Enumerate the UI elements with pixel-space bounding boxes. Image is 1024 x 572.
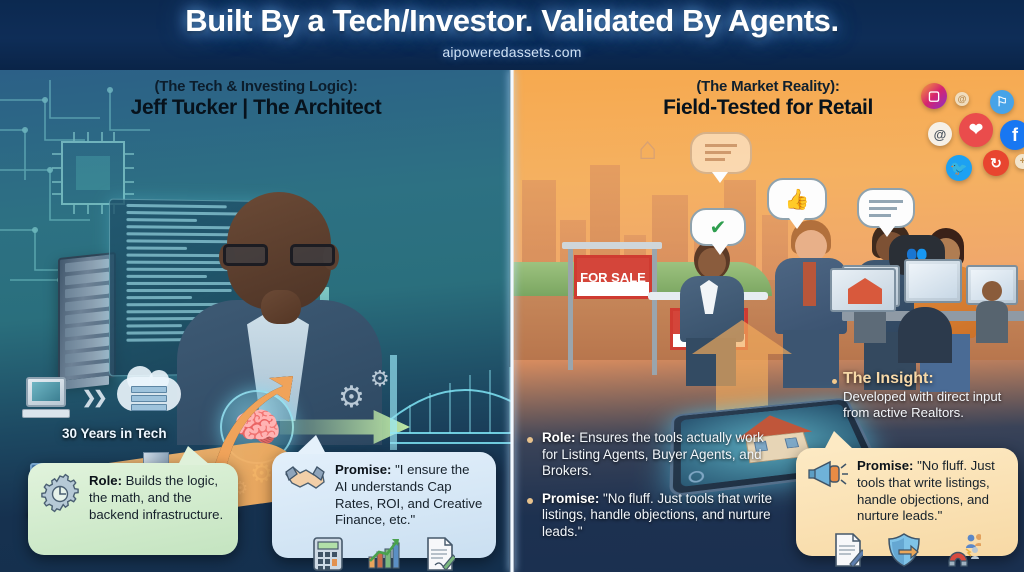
thumbsup-bubble: 👍 bbox=[767, 178, 827, 220]
right-panel-title: Field-Tested for Retail bbox=[512, 96, 1024, 120]
panel-divider bbox=[509, 70, 515, 572]
server-rack-icon bbox=[58, 252, 116, 383]
bullet-promise-label: Promise: bbox=[542, 491, 599, 506]
desktop-computer-icon bbox=[22, 377, 70, 419]
chat-lines-icon bbox=[869, 198, 903, 218]
left-panel-header: (The Tech & Investing Logic): Jeff Tucke… bbox=[0, 78, 512, 120]
promise-callout-label-right: Promise: bbox=[857, 458, 913, 473]
insight-title: The Insight: bbox=[843, 370, 1023, 388]
gear-icon: ⚙ bbox=[338, 380, 365, 415]
thumbs-up-icon: 👍 bbox=[785, 187, 810, 212]
eyeglasses-icon bbox=[223, 244, 335, 266]
banner-title: Built By a Tech/Investor. Validated By A… bbox=[0, 3, 1024, 39]
gear-icon: ⚙ bbox=[370, 366, 390, 392]
facebook-icon: f bbox=[1000, 120, 1024, 150]
promise-callout-box-left: Promise: "I ensure the AI understands Ca… bbox=[272, 452, 496, 558]
right-panel-header: (The Market Reality): Field-Tested for R… bbox=[512, 78, 1024, 120]
left-panel-title: Jeff Tucker | The Architect bbox=[0, 96, 512, 120]
suspension-bridge-graphic bbox=[390, 325, 512, 460]
bullet-role: Role: Ensures the tools actually work fo… bbox=[527, 430, 777, 480]
megaphone-icon bbox=[808, 458, 848, 490]
left-panel-kicker: (The Tech & Investing Logic): bbox=[0, 78, 512, 95]
promise-callout-icons-left bbox=[284, 537, 484, 571]
standing-person bbox=[974, 281, 1008, 343]
laptop-house-icon bbox=[830, 268, 896, 312]
infographic-canvas: Built By a Tech/Investor. Validated By A… bbox=[0, 0, 1024, 572]
sign-post bbox=[568, 245, 573, 370]
bullet-dot-icon bbox=[832, 379, 837, 384]
magnet-leads-icon bbox=[945, 533, 981, 567]
cloud-server-icon bbox=[117, 375, 181, 421]
promise-callout-label-left: Promise: bbox=[335, 462, 391, 477]
tech-timeline-label: 30 Years in Tech bbox=[62, 426, 167, 441]
growth-chart-icon bbox=[367, 537, 401, 571]
tech-timeline-row: ❯❯ bbox=[22, 375, 181, 421]
checkmark-bubble: ✔ bbox=[690, 208, 746, 246]
for-sale-sign-blank bbox=[574, 282, 652, 299]
house-bubble bbox=[690, 132, 752, 174]
right-panel-kicker: (The Market Reality): bbox=[512, 78, 1024, 95]
calculator-icon bbox=[313, 537, 343, 571]
bullet-role-label: Role: bbox=[542, 430, 575, 445]
role-callout-box: Role: Builds the logic, the math, and th… bbox=[28, 463, 238, 555]
bullet-role-text: Ensures the tools actually work for List… bbox=[542, 430, 764, 478]
handshake-icon bbox=[284, 462, 326, 494]
promise-callout-box-right: Promise: "No fluff. Just tools that writ… bbox=[796, 448, 1018, 556]
insight-block: The Insight: Developed with direct input… bbox=[843, 370, 1023, 421]
signed-document-icon bbox=[833, 533, 863, 567]
chat-bubble bbox=[857, 188, 915, 228]
at-icon: @ bbox=[928, 122, 952, 146]
title-banner: Built By a Tech/Investor. Validated By A… bbox=[0, 0, 1024, 70]
promise-callout-icons-right bbox=[808, 533, 1006, 567]
house-outline-icon: ⌂ bbox=[638, 132, 674, 164]
signed-document-icon bbox=[425, 537, 455, 571]
chevron-right-icon: ❯❯ bbox=[82, 388, 105, 408]
retweet-icon: ↻ bbox=[983, 150, 1009, 176]
insight-text: Developed with direct input from active … bbox=[843, 389, 1023, 421]
upward-arrow-icon bbox=[682, 320, 802, 415]
gear-cog-icon bbox=[40, 473, 80, 513]
chat-lines-icon bbox=[705, 141, 737, 165]
sign-bar bbox=[562, 242, 662, 249]
checkmark-icon: ✔ bbox=[710, 215, 727, 240]
realtor-desk-scene bbox=[842, 245, 1024, 380]
role-callout-label: Role: bbox=[89, 473, 122, 488]
monitor-icon bbox=[904, 259, 962, 303]
seated-person bbox=[898, 307, 952, 363]
bullet-promise: Promise: "No fluff. Just tools that writ… bbox=[527, 491, 777, 541]
shield-arrow-icon bbox=[887, 533, 921, 567]
twitter-icon: 🐦 bbox=[946, 155, 972, 181]
sign-post bbox=[652, 275, 657, 375]
banner-subtitle-url: aipoweredassets.com bbox=[0, 44, 1024, 60]
plus-icon: + bbox=[1015, 154, 1024, 169]
right-bullet-list: Role: Ensures the tools actually work fo… bbox=[527, 430, 777, 552]
